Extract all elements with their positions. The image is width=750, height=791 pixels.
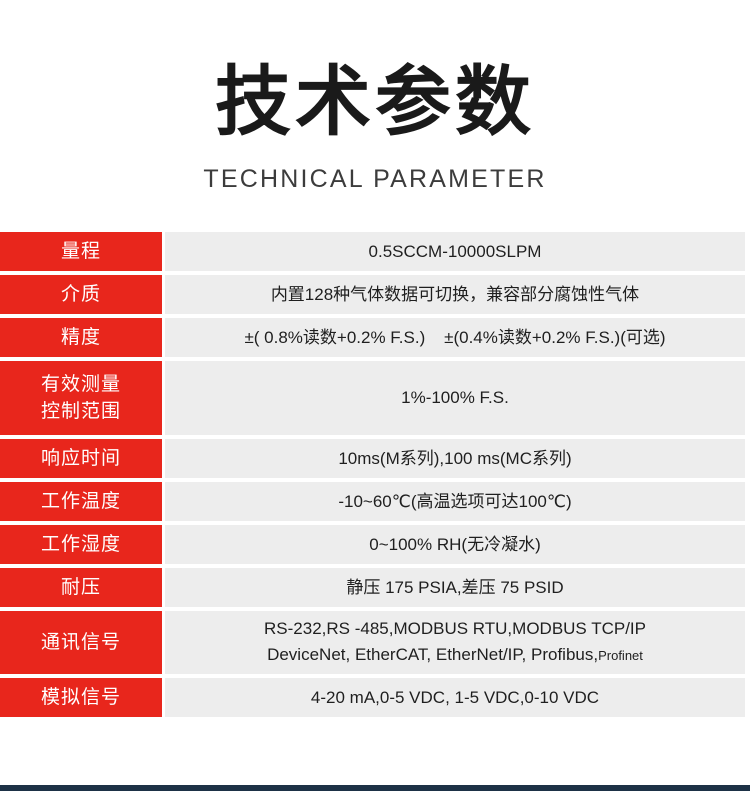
spec-value-line2: DeviceNet, EtherCAT, EtherNet/IP, Profib… <box>267 645 598 664</box>
table-row: 精度 ±( 0.8%读数+0.2% F.S.) ±(0.4%读数+0.2% F.… <box>0 318 750 357</box>
table-row: 量程 0.5SCCM-10000SLPM <box>0 232 750 271</box>
technical-parameter-page: 技术参数 TECHNICAL PARAMETER 量程 0.5SCCM-1000… <box>0 0 750 791</box>
spec-value-response-time: 10ms(M系列),100 ms(MC系列) <box>165 439 745 478</box>
spec-label-text: 响应时间 <box>41 445 121 472</box>
spec-value-line1: RS-232,RS -485,MODBUS RTU,MODBUS TCP/IP <box>264 616 646 642</box>
spec-value-text: 1%-100% F.S. <box>401 385 509 411</box>
spec-label-communication-signal: 通讯信号 <box>0 611 162 674</box>
spec-label-line1: 有效测量 <box>41 371 121 398</box>
spec-label-text: 模拟信号 <box>41 684 121 711</box>
table-row: 通讯信号 RS-232,RS -485,MODBUS RTU,MODBUS TC… <box>0 611 750 674</box>
spec-label-operating-temperature: 工作温度 <box>0 482 162 521</box>
table-row: 工作温度 -10~60℃(高温选项可达100℃) <box>0 482 750 521</box>
spec-label-text-wrapper: 有效测量 控制范围 <box>41 371 121 425</box>
spec-value-range: 0.5SCCM-10000SLPM <box>165 232 745 271</box>
spec-label-accuracy: 精度 <box>0 318 162 357</box>
spec-label-text: 工作湿度 <box>41 531 121 558</box>
spec-value-text: 内置128种气体数据可切换，兼容部分腐蚀性气体 <box>271 282 639 308</box>
spec-label-pressure-rating: 耐压 <box>0 568 162 607</box>
spec-value-text: 10ms(M系列),100 ms(MC系列) <box>338 446 571 472</box>
spec-value-text: 4-20 mA,0-5 VDC, 1-5 VDC,0-10 VDC <box>311 685 599 711</box>
table-row: 工作湿度 0~100% RH(无冷凝水) <box>0 525 750 564</box>
spec-label-analog-signal: 模拟信号 <box>0 678 162 717</box>
spec-label-text: 精度 <box>61 324 101 351</box>
table-row: 模拟信号 4-20 mA,0-5 VDC, 1-5 VDC,0-10 VDC <box>0 678 750 717</box>
spec-value-profinet: Profinet <box>598 648 643 663</box>
spec-label-text: 工作温度 <box>41 488 121 515</box>
page-header: 技术参数 TECHNICAL PARAMETER <box>0 0 750 228</box>
spec-label-range: 量程 <box>0 232 162 271</box>
spec-label-medium: 介质 <box>0 275 162 314</box>
spec-label-response-time: 响应时间 <box>0 439 162 478</box>
spec-value-text: 0.5SCCM-10000SLPM <box>369 239 542 265</box>
spec-label-text: 介质 <box>61 281 101 308</box>
table-row: 响应时间 10ms(M系列),100 ms(MC系列) <box>0 439 750 478</box>
spec-value-communication-signal: RS-232,RS -485,MODBUS RTU,MODBUS TCP/IP … <box>165 611 745 674</box>
page-subtitle-english: TECHNICAL PARAMETER <box>0 163 750 195</box>
table-row: 有效测量 控制范围 1%-100% F.S. <box>0 361 750 435</box>
spec-value-operating-temperature: -10~60℃(高温选项可达100℃) <box>165 482 745 521</box>
specification-table: 量程 0.5SCCM-10000SLPM 介质 内置128种气体数据可切换，兼容… <box>0 232 750 717</box>
spec-label-operating-humidity: 工作湿度 <box>0 525 162 564</box>
table-row: 介质 内置128种气体数据可切换，兼容部分腐蚀性气体 <box>0 275 750 314</box>
spec-value-medium: 内置128种气体数据可切换，兼容部分腐蚀性气体 <box>165 275 745 314</box>
spec-value-text: 0~100% RH(无冷凝水) <box>369 532 540 558</box>
spec-value-effective-range: 1%-100% F.S. <box>165 361 745 435</box>
bottom-accent-strip <box>0 785 750 791</box>
spec-value-operating-humidity: 0~100% RH(无冷凝水) <box>165 525 745 564</box>
spec-label-text: 耐压 <box>61 574 101 601</box>
spec-value-text: -10~60℃(高温选项可达100℃) <box>338 489 571 515</box>
spec-label-line2: 控制范围 <box>41 398 121 425</box>
spec-value-pressure-rating: 静压 175 PSIA,差压 75 PSID <box>165 568 745 607</box>
spec-value-accuracy: ±( 0.8%读数+0.2% F.S.) ±(0.4%读数+0.2% F.S.)… <box>165 318 745 357</box>
spec-value-text: ±( 0.8%读数+0.2% F.S.) ±(0.4%读数+0.2% F.S.)… <box>244 325 665 351</box>
spec-value-text: 静压 175 PSIA,差压 75 PSID <box>346 575 563 601</box>
table-row: 耐压 静压 175 PSIA,差压 75 PSID <box>0 568 750 607</box>
spec-label-text: 通讯信号 <box>41 629 121 656</box>
spec-value-line2-wrapper: DeviceNet, EtherCAT, EtherNet/IP, Profib… <box>267 642 643 669</box>
spec-label-text: 量程 <box>61 238 101 265</box>
spec-value-analog-signal: 4-20 mA,0-5 VDC, 1-5 VDC,0-10 VDC <box>165 678 745 717</box>
spec-label-effective-range: 有效测量 控制范围 <box>0 361 162 435</box>
page-title-chinese: 技术参数 <box>0 56 750 148</box>
